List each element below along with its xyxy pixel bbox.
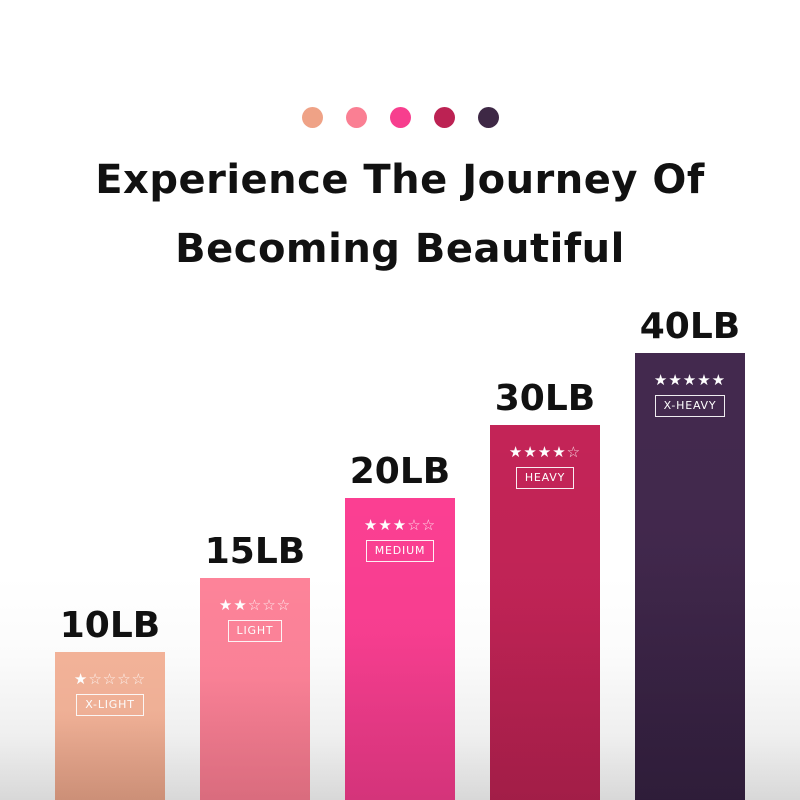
bar-group-medium[interactable]: 20LB★★★☆☆MEDIUM (345, 498, 455, 800)
grade-badge: MEDIUM (366, 540, 435, 562)
star-filled-icon: ★ (538, 443, 552, 461)
star-rating: ★★★☆☆ (345, 517, 455, 533)
star-empty-icon: ☆ (103, 670, 117, 688)
star-empty-icon: ☆ (567, 443, 581, 461)
star-empty-icon: ☆ (248, 596, 262, 614)
star-filled-icon: ★ (712, 371, 726, 389)
star-rating: ★★★★★ (635, 372, 745, 388)
bar-group-x-light[interactable]: 10LB★☆☆☆☆X-LIGHT (55, 652, 165, 800)
star-filled-icon: ★ (509, 443, 523, 461)
star-empty-icon: ☆ (88, 670, 102, 688)
star-filled-icon: ★ (668, 371, 682, 389)
star-rating: ★★☆☆☆ (200, 597, 310, 613)
bar-value-label: 40LB (640, 307, 740, 347)
bar-meta: ★☆☆☆☆X-LIGHT (55, 671, 165, 716)
bar-meta: ★★★★★X-HEAVY (635, 372, 745, 417)
star-filled-icon: ★ (364, 516, 378, 534)
star-filled-icon: ★ (683, 371, 697, 389)
star-empty-icon: ☆ (407, 516, 421, 534)
star-filled-icon: ★ (654, 371, 668, 389)
bar-value-label: 30LB (495, 379, 595, 419)
bar-meta: ★★★★☆HEAVY (490, 444, 600, 489)
star-filled-icon: ★ (219, 596, 233, 614)
bar[interactable]: ★★★★☆HEAVY (490, 425, 600, 800)
bar[interactable]: ★★★★★X-HEAVY (635, 353, 745, 800)
star-empty-icon: ☆ (277, 596, 291, 614)
star-filled-icon: ★ (378, 516, 392, 534)
star-filled-icon: ★ (552, 443, 566, 461)
star-empty-icon: ☆ (117, 670, 131, 688)
star-rating: ★★★★☆ (490, 444, 600, 460)
grade-badge: X-HEAVY (655, 395, 726, 417)
star-filled-icon: ★ (393, 516, 407, 534)
bar-value-label: 10LB (60, 606, 160, 646)
star-filled-icon: ★ (74, 670, 88, 688)
bar[interactable]: ★★☆☆☆LIGHT (200, 578, 310, 800)
bar-group-x-heavy[interactable]: 40LB★★★★★X-HEAVY (635, 353, 745, 800)
bar[interactable]: ★★★☆☆MEDIUM (345, 498, 455, 800)
bar-meta: ★★☆☆☆LIGHT (200, 597, 310, 642)
star-empty-icon: ☆ (132, 670, 146, 688)
bar-value-label: 20LB (350, 452, 450, 492)
bar-group-heavy[interactable]: 30LB★★★★☆HEAVY (490, 425, 600, 800)
star-filled-icon: ★ (697, 371, 711, 389)
star-filled-icon: ★ (233, 596, 247, 614)
grade-badge: X-LIGHT (76, 694, 143, 716)
resistance-bar-chart: 10LB★☆☆☆☆X-LIGHT15LB★★☆☆☆LIGHT20LB★★★☆☆M… (0, 0, 800, 800)
grade-badge: LIGHT (228, 620, 283, 642)
bar[interactable]: ★☆☆☆☆X-LIGHT (55, 652, 165, 800)
star-filled-icon: ★ (523, 443, 537, 461)
bar-meta: ★★★☆☆MEDIUM (345, 517, 455, 562)
bar-group-light[interactable]: 15LB★★☆☆☆LIGHT (200, 578, 310, 800)
star-rating: ★☆☆☆☆ (55, 671, 165, 687)
product-infographic: Experience The Journey Of Becoming Beaut… (0, 0, 800, 800)
grade-badge: HEAVY (516, 467, 574, 489)
bar-shading-overlay (635, 353, 745, 800)
star-empty-icon: ☆ (422, 516, 436, 534)
star-empty-icon: ☆ (262, 596, 276, 614)
bar-value-label: 15LB (205, 532, 305, 572)
